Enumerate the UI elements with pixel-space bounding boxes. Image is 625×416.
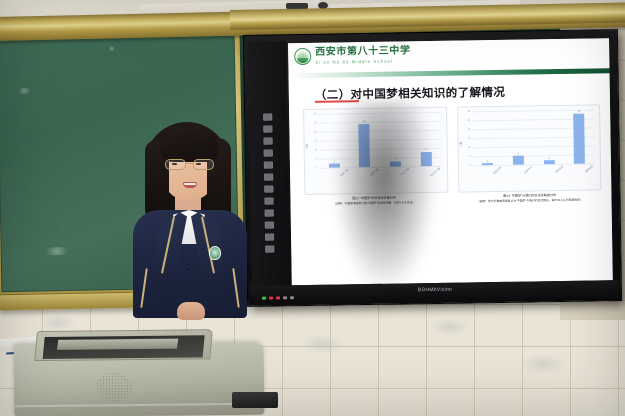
speaker-grille-icon: [96, 372, 132, 402]
classroom-scene: 西安市第八十三中学 Xi'an No.83 Middle School （二）对…: [0, 0, 625, 416]
bar: [573, 113, 585, 163]
panel-screen[interactable]: 西安市第八十三中学 Xi'an No.83 Middle School （二）对…: [288, 38, 613, 285]
ytick: 25: [314, 121, 317, 124]
chart-card-right: 人数 30 25 20 15 10 5 0 1: [457, 104, 602, 192]
interactive-flat-panel[interactable]: 西安市第八十三中学 Xi'an No.83 Middle School （二）对…: [243, 29, 622, 307]
led-indicator: [262, 297, 266, 300]
school-crest-pin: [209, 246, 221, 260]
chart-right-plot: 30 25 20 15 10 5 0 1: [472, 109, 595, 165]
ytick: 30: [314, 112, 317, 115]
teaching-console-lectern[interactable]: [14, 343, 265, 416]
bar: [513, 156, 524, 165]
panel-brand-logo: BDHMbVision: [418, 287, 452, 294]
mouth: [183, 182, 197, 188]
hair-front: [159, 126, 219, 162]
led-indicator: [269, 297, 273, 300]
ytick: 0: [316, 166, 317, 169]
ytick: 5: [469, 155, 470, 158]
school-seal-icon: [294, 48, 311, 65]
ytick: 5: [316, 157, 317, 160]
chart-left-ylabel: 人数: [306, 144, 310, 150]
panel-led-row: [262, 296, 294, 300]
hands: [177, 302, 205, 320]
panel-side-bezel: [248, 41, 290, 288]
ytick: 30: [467, 110, 470, 113]
led-indicator: [283, 296, 287, 299]
ytick: 10: [315, 148, 318, 151]
student-presenter: [131, 118, 249, 318]
ytick: 10: [468, 146, 471, 149]
bar-value: 28: [577, 110, 580, 113]
ytick: 20: [468, 128, 471, 131]
chart-right-bars: 1 5 2: [472, 109, 595, 165]
lectern-tray: [57, 339, 178, 350]
led-indicator: [290, 296, 294, 299]
ytick: 15: [468, 137, 471, 140]
school-name-cn: 西安市第八十三中学: [315, 47, 411, 59]
chart-right-ylabel: 人数: [459, 142, 463, 148]
presenter-shadow: [333, 101, 436, 285]
slide-header: 西安市第八十三中学 Xi'an No.83 Middle School: [288, 38, 609, 77]
caption-note-right: （说明：绝大多数被调查者认为"中国梦"与我们的生活相关，其中34人认为高度相关）: [456, 198, 604, 204]
ytick: 0: [470, 164, 471, 167]
cable-box: [232, 392, 278, 408]
led-indicator: [276, 296, 280, 299]
school-name-en: Xi'an No.83 Middle School: [315, 58, 410, 64]
chart-right-xlabels: 毫无关系 关系不大 有些关系 高度相关: [472, 163, 595, 189]
bar-slot: 1: [473, 111, 501, 165]
school-logo: 西安市第八十三中学 Xi'an No.83 Middle School: [294, 46, 411, 65]
header-accent-band: [288, 68, 609, 78]
ytick: 20: [314, 130, 317, 133]
bar-slot: 5: [504, 110, 532, 164]
bar-slot: 2: [535, 110, 563, 164]
ytick: 25: [468, 119, 471, 122]
ytick: 15: [314, 139, 317, 142]
eyeglasses: [165, 159, 215, 170]
bar-slot: 28: [565, 109, 593, 163]
